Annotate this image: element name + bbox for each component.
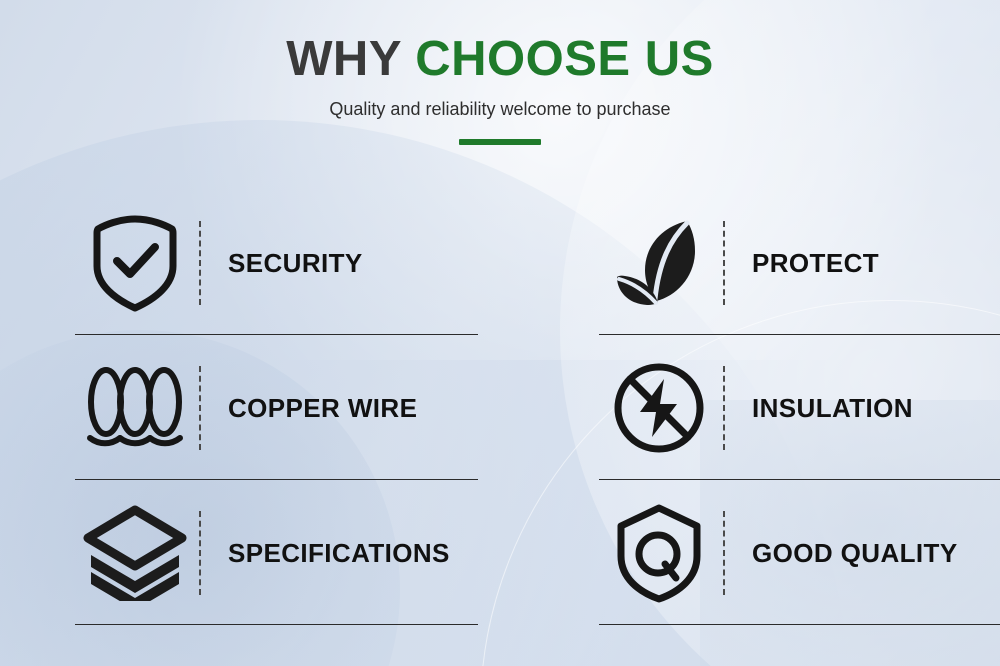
page-title-accent: CHOOSE US xyxy=(415,32,714,86)
feature-row-2: COPPER WIRE INSULATION xyxy=(0,335,1000,480)
feature-label: PROTECT xyxy=(752,248,879,278)
why-choose-us-banner: WHY CHOOSE US Quality and reliability we… xyxy=(0,0,1000,666)
row-divider-rule xyxy=(599,624,1000,625)
header: WHY CHOOSE US Quality and reliability we… xyxy=(0,30,1000,145)
feature-label: COPPER WIRE xyxy=(228,393,417,423)
feature-item-good-quality[interactable]: GOOD QUALITY xyxy=(599,480,1000,625)
feature-row-3: SPECIFICATIONS GOOD QUALITY xyxy=(0,480,1000,625)
wire-coil-icon xyxy=(75,353,195,463)
vertical-dashed-divider xyxy=(199,511,201,595)
page-title: WHY CHOOSE US xyxy=(0,30,1000,88)
feature-label: INSULATION xyxy=(752,393,913,423)
vertical-dashed-divider xyxy=(723,366,725,450)
vertical-dashed-divider xyxy=(199,221,201,305)
shield-quality-icon xyxy=(599,498,719,608)
shield-check-icon xyxy=(75,208,195,318)
vertical-dashed-divider xyxy=(723,511,725,595)
feature-label: SECURITY xyxy=(228,248,363,278)
no-electricity-icon xyxy=(599,353,719,463)
feature-item-protect[interactable]: PROTECT xyxy=(599,190,1000,335)
vertical-dashed-divider xyxy=(723,221,725,305)
feature-item-specifications[interactable]: SPECIFICATIONS xyxy=(75,480,553,625)
feature-label: SPECIFICATIONS xyxy=(228,538,450,568)
row-divider-rule xyxy=(75,624,478,625)
title-underline-rule xyxy=(459,139,541,145)
feature-label: GOOD QUALITY xyxy=(752,538,958,568)
vertical-dashed-divider xyxy=(199,366,201,450)
leaf-icon xyxy=(599,208,719,318)
feature-item-copper-wire[interactable]: COPPER WIRE xyxy=(75,335,553,480)
page-title-plain: WHY xyxy=(286,32,415,86)
feature-grid: SECURITY PROTECT xyxy=(0,190,1000,625)
page-subtitle: Quality and reliability welcome to purch… xyxy=(0,97,1000,121)
feature-item-security[interactable]: SECURITY xyxy=(75,190,553,335)
layers-icon xyxy=(75,498,195,608)
feature-item-insulation[interactable]: INSULATION xyxy=(599,335,1000,480)
feature-row-1: SECURITY PROTECT xyxy=(0,190,1000,335)
